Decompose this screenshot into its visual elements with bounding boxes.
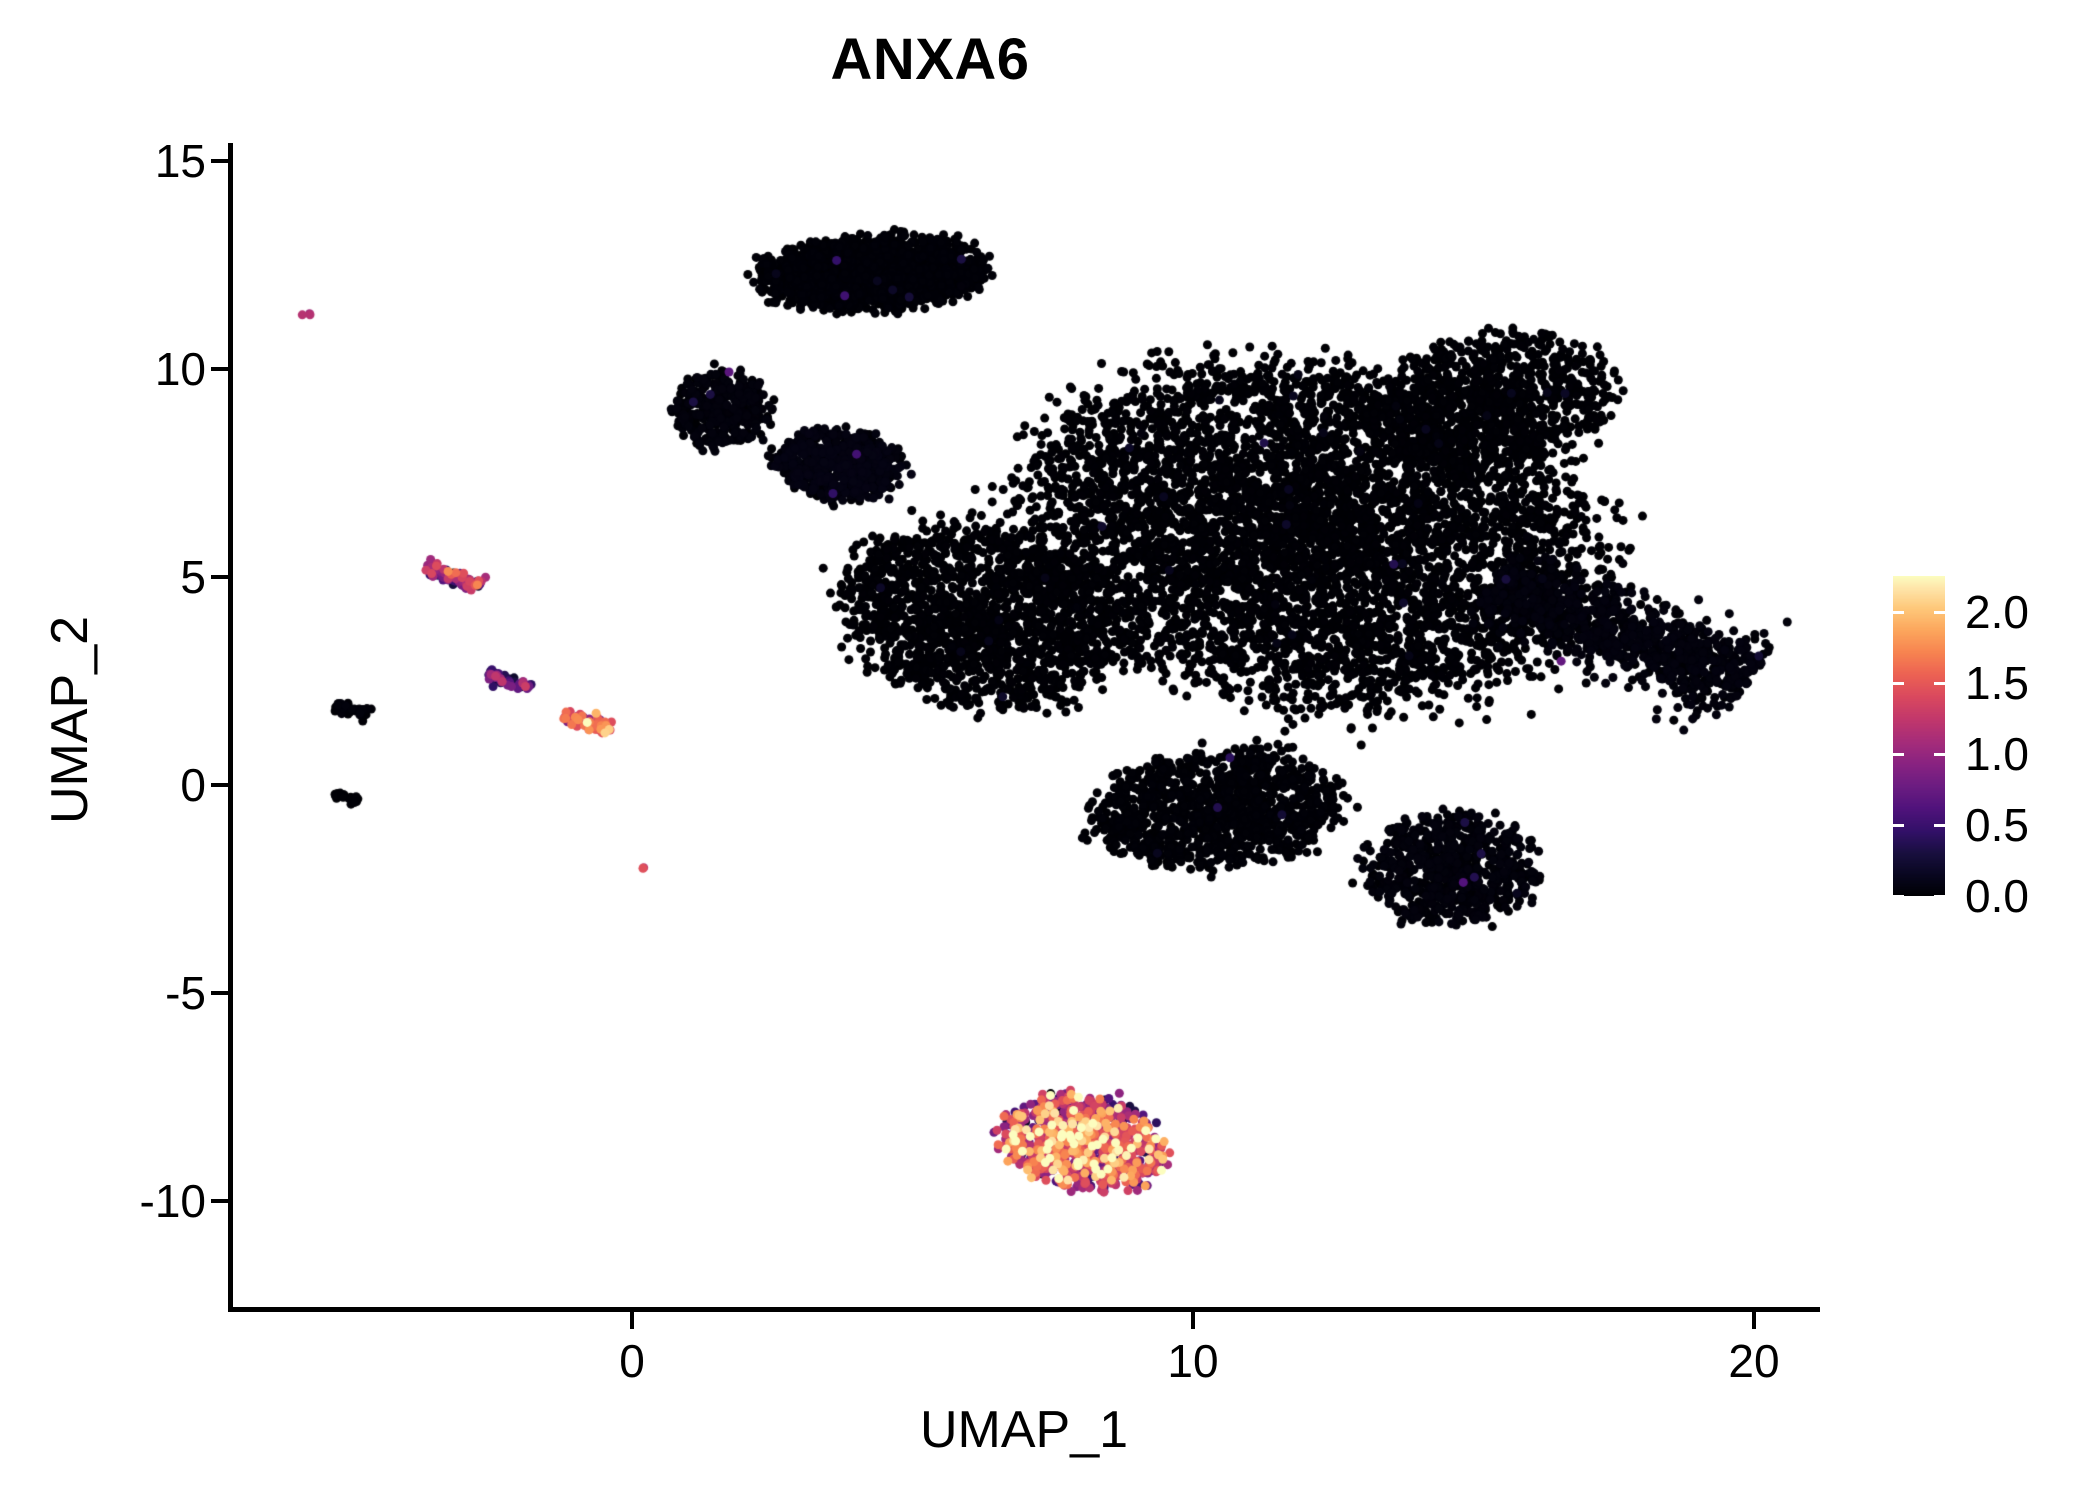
y-tick-mark [211,367,228,371]
y-tick-mark [211,783,228,787]
y-tick-mark [211,991,228,995]
x-tick-mark [630,1312,634,1329]
x-tick-label: 0 [619,1334,645,1388]
y-tick-mark [211,1199,228,1203]
colorbar-tick-mark [1893,611,1945,614]
colorbar-tick-label: 1.0 [1965,727,2029,781]
colorbar-tick-label: 2.0 [1965,585,2029,639]
y-tick-label: -5 [165,966,206,1020]
y-axis-label: UMAP_2 [40,320,100,1120]
colorbar-gradient [1893,576,1945,896]
y-axis-line [228,143,233,1312]
x-tick-mark [1752,1312,1756,1329]
y-tick-mark [211,159,228,163]
x-tick-label: 20 [1728,1334,1779,1388]
colorbar-tick-label: 0.5 [1965,798,2029,852]
y-tick-label: 10 [155,342,206,396]
x-axis-label: UMAP_1 [228,1400,1820,1460]
umap-feature-plot: ANXA6 01020 -10-5051015 UMAP_1 UMAP_2 2.… [0,0,2100,1500]
y-tick-label: 5 [180,550,206,604]
y-tick-label: 15 [155,134,206,188]
colorbar-tick-mark [1893,824,1945,827]
x-tick-mark [1191,1312,1195,1329]
colorbar-tick-mark [1893,753,1945,756]
y-tick-mark [211,575,228,579]
x-tick-label: 10 [1167,1334,1218,1388]
x-axis-line [228,1307,1820,1312]
colorbar-tick-mark [1893,682,1945,685]
y-tick-label: 0 [180,758,206,812]
y-tick-label: -10 [140,1174,206,1228]
scatter-plot-canvas [0,0,2100,1500]
colorbar-tick-mark [1893,895,1945,898]
colorbar-tick-label: 0.0 [1965,869,2029,923]
colorbar-tick-label: 1.5 [1965,656,2029,710]
